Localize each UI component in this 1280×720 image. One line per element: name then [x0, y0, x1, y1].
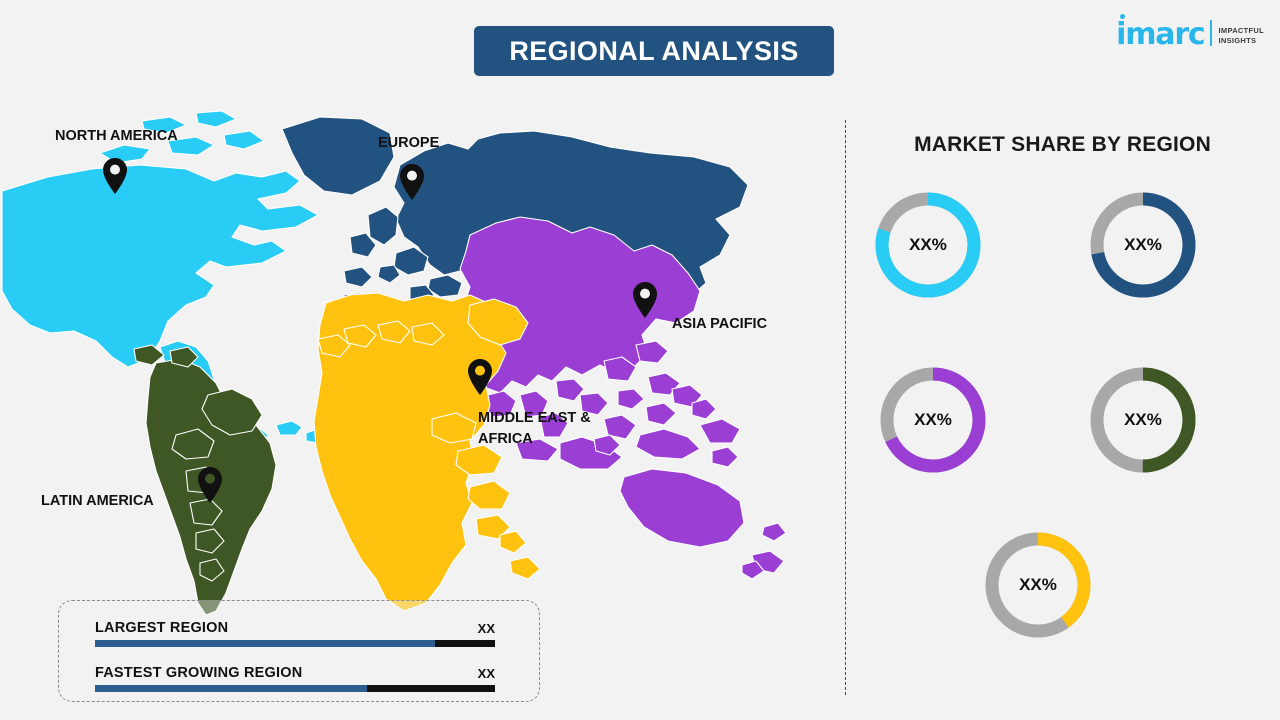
map-pin-middle-east-africa-icon[interactable] — [466, 358, 494, 396]
logo-wordmark: imarc — [1116, 21, 1204, 48]
legend-row-largest-region: LARGEST REGION XX — [95, 620, 495, 647]
logo-tagline-line1: IMPACTFUL — [1219, 26, 1264, 35]
donut-value-north-america: XX% — [868, 185, 988, 305]
panel-title-market-share: MARKET SHARE BY REGION — [845, 133, 1280, 157]
page-title: REGIONAL ANALYSIS — [509, 36, 798, 67]
map-label-middle-east-africa-text: MIDDLE EAST & AFRICA — [478, 408, 591, 450]
logo-word-text: imarc — [1116, 17, 1204, 52]
map-pin-north-america-icon[interactable] — [101, 157, 129, 195]
logo-tagline-line2: INSIGHTS — [1219, 36, 1264, 45]
map-pin-asia-pacific-icon[interactable] — [631, 281, 659, 319]
donut-asia-pacific: XX% — [873, 360, 993, 480]
map-region-asia-pacific — [460, 217, 784, 573]
map-label-latin-america-text: LATIN AMERICA — [41, 491, 154, 512]
donut-north-america: XX% — [868, 185, 988, 305]
page-title-badge: REGIONAL ANALYSIS — [474, 26, 834, 76]
legend-bar-largest-region — [95, 640, 495, 647]
imarc-logo: imarc IMPACTFUL INSIGHTS — [1116, 20, 1264, 48]
legend-row-fastest-growing-region: FASTEST GROWING REGION XX — [95, 665, 495, 692]
logo-separator-bar — [1210, 20, 1212, 46]
donut-chart-group: XX%XX%XX%XX%XX% — [858, 175, 1278, 675]
donut-europe: XX% — [1083, 185, 1203, 305]
panel-divider — [845, 120, 846, 695]
legend-label-fastest-growing-region: FASTEST GROWING REGION — [95, 665, 302, 681]
donut-value-middle-east-africa: XX% — [978, 525, 1098, 645]
donut-value-asia-pacific: XX% — [873, 360, 993, 480]
legend-bar-fill-fastest-growing-region — [95, 685, 367, 692]
legend-bar-fastest-growing-region — [95, 685, 495, 692]
legend-box: LARGEST REGION XX FASTEST GROWING REGION… — [58, 600, 540, 702]
legend-bar-fill-largest-region — [95, 640, 435, 647]
logo-tagline: IMPACTFUL INSIGHTS — [1219, 26, 1264, 48]
infographic-canvas: REGIONAL ANALYSIS imarc IMPACTFUL INSIGH… — [0, 0, 1280, 720]
donut-value-europe: XX% — [1083, 185, 1203, 305]
legend-value-fastest-growing-region: XX — [478, 666, 495, 681]
map-label-europe-text: EUROPE — [378, 133, 439, 154]
legend-label-largest-region: LARGEST REGION — [95, 620, 228, 636]
map-pin-europe-icon[interactable] — [398, 163, 426, 201]
map-islands-oceania — [742, 523, 786, 579]
map-pin-latin-america-icon[interactable] — [196, 466, 224, 504]
donut-latin-america: XX% — [1083, 360, 1203, 480]
map-label-north-america-text: NORTH AMERICA — [55, 126, 178, 147]
map-label-asia-pacific-text: ASIA PACIFIC — [672, 314, 767, 335]
legend-value-largest-region: XX — [478, 621, 495, 636]
map-region-middle-east-africa — [314, 293, 540, 611]
donut-value-latin-america: XX% — [1083, 360, 1203, 480]
donut-middle-east-africa: XX% — [978, 525, 1098, 645]
